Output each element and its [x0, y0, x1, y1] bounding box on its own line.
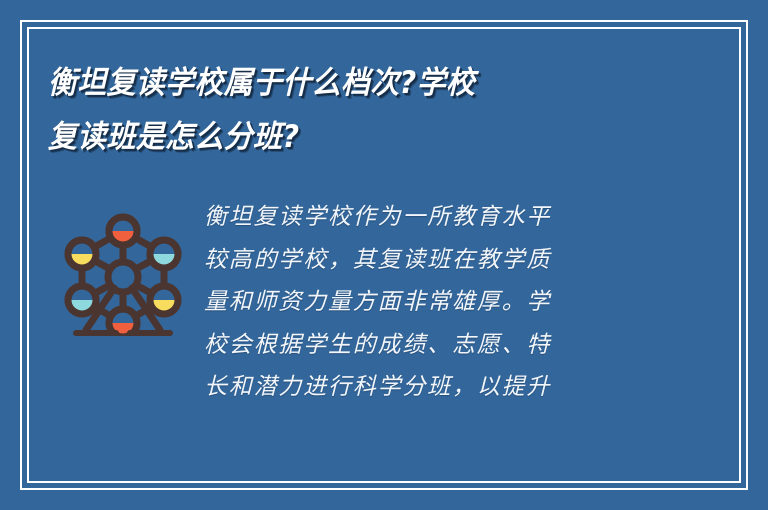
body-paragraph: 衡坦复读学校作为一所教育水平 较高的学校，其复读班在教学质 量和师资力量方面非常…	[198, 196, 720, 409]
ferris-wheel-icon	[62, 210, 184, 336]
body-line-1: 衡坦复读学校作为一所教育水平	[204, 196, 720, 239]
title-line-2: 复读班是怎么分班?	[48, 110, 625, 164]
title-line-1: 衡坦复读学校属于什么档次?学校	[48, 56, 625, 110]
body-line-2: 较高的学校，其复读班在教学质	[204, 239, 720, 282]
body-line-3: 量和师资力量方面非常雄厚。学	[204, 281, 720, 324]
content-row: 衡坦复读学校作为一所教育水平 较高的学校，其复读班在教学质 量和师资力量方面非常…	[48, 196, 720, 409]
body-line-4: 校会根据学生的成绩、志愿、特	[204, 324, 720, 367]
poster-canvas: 衡坦复读学校属于什么档次?学校 复读班是怎么分班?	[0, 0, 768, 510]
page-title: 衡坦复读学校属于什么档次?学校 复读班是怎么分班?	[48, 56, 668, 164]
body-line-5: 长和潜力进行科学分班，以提升	[204, 366, 720, 409]
illustration-container	[48, 196, 198, 336]
